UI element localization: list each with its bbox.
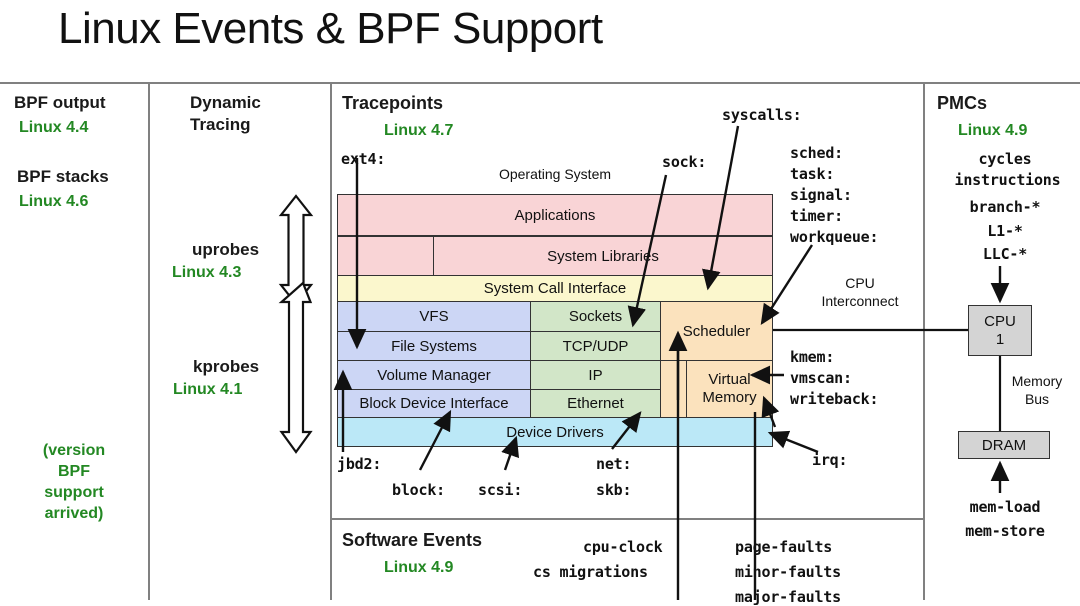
pmc-event-llc: LLC-*	[930, 245, 1080, 263]
slide-root: Linux Events & BPF Support BPF output Li…	[0, 0, 1080, 600]
arrow-irq	[770, 433, 818, 452]
ethernet-box: Ethernet	[530, 389, 661, 418]
page-title: Linux Events & BPF Support	[58, 4, 603, 54]
sw-event-major-faults: major-faults	[735, 588, 841, 606]
device-drivers-box: Device Drivers	[337, 417, 773, 447]
system-libraries-label: System Libraries	[547, 248, 659, 265]
block-device-interface-box: Block Device Interface	[337, 389, 531, 418]
label-scsi: scsi:	[478, 481, 522, 499]
uprobes-version: Linux 4.3	[172, 264, 241, 282]
sw-event-minor-faults: minor-faults	[735, 563, 841, 581]
label-task: task:	[790, 165, 834, 183]
pmc-mem-store: mem-store	[930, 522, 1080, 540]
ip-box: IP	[530, 360, 661, 390]
cpu-interconnect-label-2: Interconnect	[805, 293, 915, 310]
file-systems-box: File Systems	[337, 331, 531, 361]
scheduler-box: Scheduler	[660, 301, 773, 361]
file-systems-label: File Systems	[391, 338, 477, 355]
pmc-event-cycles: cycles	[930, 150, 1080, 168]
divider-bpf-dynamic	[148, 82, 150, 600]
bpf-stacks-version: Linux 4.6	[19, 193, 88, 211]
applications-box: Applications	[337, 194, 773, 236]
cpu-label-1: CPU	[984, 313, 1016, 331]
pmc-event-instructions: instructions	[930, 171, 1080, 189]
memory-bus-label-1: Memory	[1002, 373, 1072, 390]
applications-box-lower-left	[337, 236, 434, 276]
pmc-mem-load: mem-load	[930, 498, 1080, 516]
device-drivers-label: Device Drivers	[506, 424, 604, 441]
scheduler-label: Scheduler	[683, 323, 751, 340]
divider-software-events	[330, 518, 923, 520]
os-caption: Operating System	[480, 166, 630, 183]
system-call-interface-label: System Call Interface	[484, 280, 627, 297]
tracepoints-heading: Tracepoints	[342, 93, 443, 114]
divider-tracepoints-pmcs	[923, 82, 925, 600]
label-net: net:	[596, 455, 631, 473]
sw-event-page-faults: page-faults	[735, 538, 832, 556]
label-timer: timer:	[790, 207, 843, 225]
dynamic-tracing-heading-2: Tracing	[190, 115, 250, 135]
applications-label: Applications	[515, 207, 596, 224]
vfs-box: VFS	[337, 301, 531, 332]
label-ext4: ext4:	[341, 150, 385, 168]
sockets-label: Sockets	[569, 308, 622, 325]
label-signal: signal:	[790, 186, 852, 204]
tcp-udp-label: TCP/UDP	[563, 338, 629, 355]
kprobes-version: Linux 4.1	[173, 381, 242, 399]
scheduler-column-spacer	[660, 360, 687, 418]
pmcs-heading: PMCs	[937, 93, 987, 114]
bpf-output-heading: BPF output	[14, 93, 106, 113]
uprobes-hollow-arrow	[281, 196, 311, 304]
cpu-box: CPU 1	[968, 305, 1032, 356]
virtual-memory-label-1: Virtual	[708, 371, 750, 389]
tracepoints-version: Linux 4.7	[384, 122, 453, 140]
label-irq: irq:	[812, 451, 847, 469]
memory-bus-label-2: Bus	[1002, 391, 1072, 408]
label-writeback: writeback:	[790, 390, 878, 408]
block-device-interface-label: Block Device Interface	[359, 395, 508, 412]
label-skb: skb:	[596, 481, 631, 499]
volume-manager-box: Volume Manager	[337, 360, 531, 390]
label-vmscan: vmscan:	[790, 369, 852, 387]
software-events-version: Linux 4.9	[384, 559, 453, 577]
pmc-event-l1: L1-*	[930, 222, 1080, 240]
tcp-udp-box: TCP/UDP	[530, 331, 661, 361]
cpu-label-2: 1	[996, 331, 1004, 349]
kprobes-label: kprobes	[193, 357, 259, 377]
ip-label: IP	[588, 367, 602, 384]
uprobes-label: uprobes	[192, 240, 259, 260]
dynamic-tracing-heading-1: Dynamic	[190, 93, 261, 113]
pmc-event-branch: branch-*	[930, 198, 1080, 216]
label-workqueue: workqueue:	[790, 228, 878, 246]
virtual-memory-label-2: Memory	[702, 389, 756, 407]
dram-label: DRAM	[982, 437, 1026, 454]
sockets-box: Sockets	[530, 301, 661, 332]
kprobes-hollow-arrow	[282, 283, 311, 452]
label-sock: sock:	[662, 153, 706, 171]
virtual-memory-box: Virtual Memory	[686, 360, 773, 418]
label-sched: sched:	[790, 144, 843, 162]
label-block: block:	[392, 481, 445, 499]
dram-box: DRAM	[958, 431, 1050, 459]
software-events-heading: Software Events	[342, 530, 482, 551]
system-call-interface-box: System Call Interface	[337, 275, 773, 302]
label-jbd2: jbd2:	[337, 455, 381, 473]
ethernet-label: Ethernet	[567, 395, 624, 412]
pmcs-version: Linux 4.9	[958, 122, 1027, 140]
divider-dynamic-tracepoints	[330, 82, 332, 600]
system-libraries-box: System Libraries	[433, 236, 773, 276]
label-syscalls: syscalls:	[722, 106, 801, 124]
version-note: (version BPF support arrived)	[4, 440, 144, 524]
label-kmem: kmem:	[790, 348, 834, 366]
bpf-output-version: Linux 4.4	[19, 119, 88, 137]
sw-event-cs-migrations: cs migrations	[533, 563, 648, 581]
vfs-label: VFS	[419, 308, 448, 325]
volume-manager-label: Volume Manager	[377, 367, 490, 384]
sw-event-cpu-clock: cpu-clock	[583, 538, 662, 556]
cpu-interconnect-label-1: CPU	[805, 275, 915, 292]
bpf-stacks-heading: BPF stacks	[17, 167, 109, 187]
panel-top-border	[0, 82, 1080, 84]
